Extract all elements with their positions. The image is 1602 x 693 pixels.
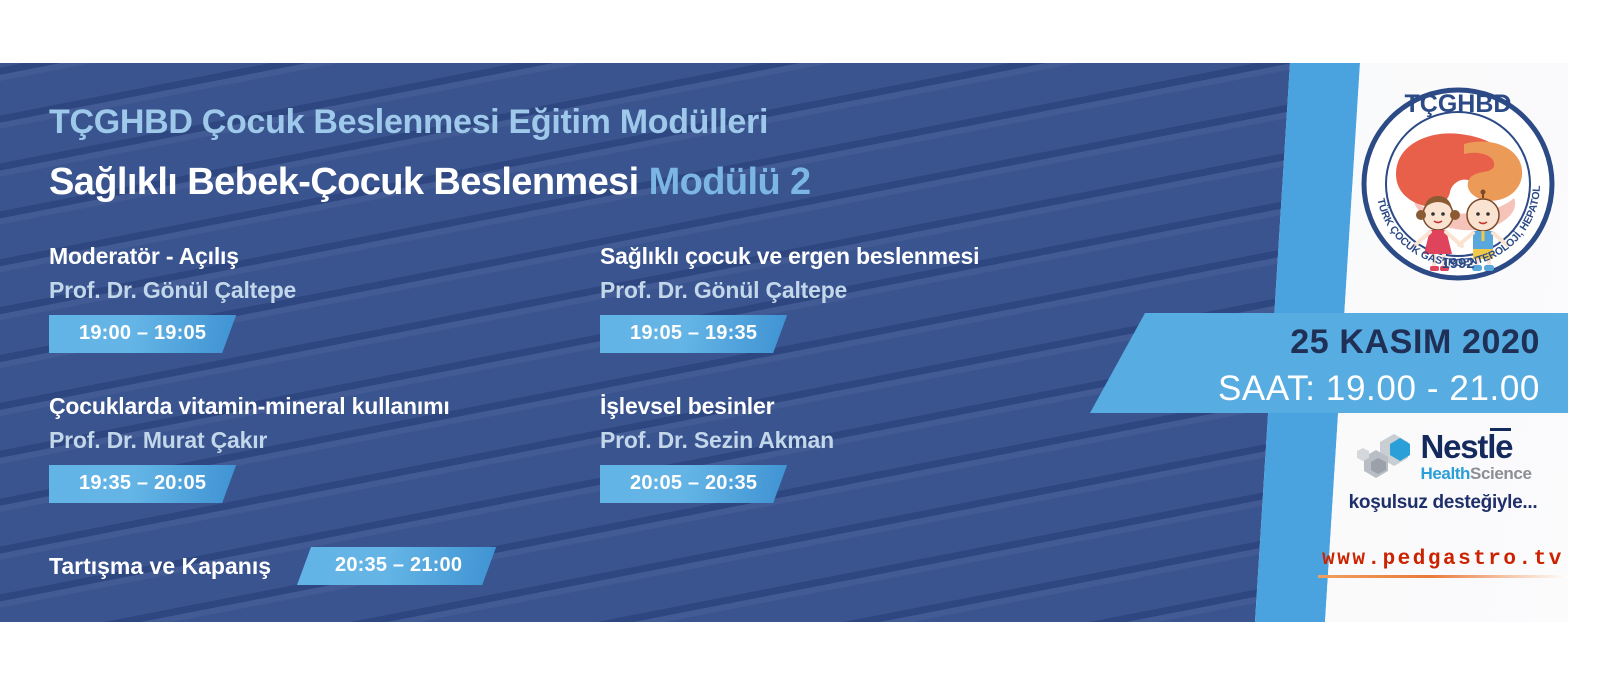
event-banner: TÇGHBD Çocuk Beslenmesi Eğitim Modülleri… xyxy=(0,63,1602,622)
headline-accent: Modülü 2 xyxy=(649,161,811,203)
session-time-badge: 19:35 – 20:05 xyxy=(49,465,236,503)
event-time: SAAT: 19.00 - 21.00 xyxy=(1090,359,1540,406)
website-url[interactable]: www.pedgastro.tv xyxy=(1318,548,1568,571)
tcghbd-logo: TÇGHBD 1992 TÜRK ÇOCUK GASTROENTEROLOJİ,… xyxy=(1352,78,1564,290)
kicker-title: TÇGHBD Çocuk Beslenmesi Eğitim Modülleri xyxy=(49,103,768,142)
closing-time-badge: 20:35 – 21:00 xyxy=(297,547,496,585)
session-time-badge: 19:05 – 19:35 xyxy=(600,315,787,353)
nestle-health-word: Health xyxy=(1420,464,1470,483)
event-date-banner: 25 KASIM 2020 SAAT: 19.00 - 21.00 xyxy=(1090,313,1568,413)
closing-title: Tartışma ve Kapanış xyxy=(49,553,271,580)
nestle-sponsor-logo: Nestle HealthScience koşulsuz desteğiyle… xyxy=(1318,428,1568,514)
session-title: İşlevsel besinler xyxy=(600,393,834,420)
session-item: İşlevsel besinler Prof. Dr. Sezin Akman … xyxy=(600,393,834,503)
session-speaker: Prof. Dr. Gönül Çaltepe xyxy=(600,277,979,304)
session-time-badge: 19:00 – 19:05 xyxy=(49,315,236,353)
session-title: Moderatör - Açılış xyxy=(49,243,296,270)
nestle-hexagon-icon xyxy=(1354,428,1416,484)
nestle-science-word: Science xyxy=(1470,464,1531,483)
url-underline xyxy=(1318,575,1568,578)
logo-acronym: TÇGHBD xyxy=(1405,90,1512,118)
session-title: Sağlıklı çocuk ve ergen beslenmesi xyxy=(600,243,979,270)
nestle-subbrand: HealthScience xyxy=(1420,465,1531,482)
session-speaker: Prof. Dr. Sezin Akman xyxy=(600,427,834,454)
page-title: Sağlıklı Bebek-Çocuk Beslenmesi Modülü 2 xyxy=(49,161,811,204)
session-item: Sağlıklı çocuk ve ergen beslenmesi Prof.… xyxy=(600,243,979,353)
program-content: TÇGHBD Çocuk Beslenmesi Eğitim Modülleri… xyxy=(0,63,1100,622)
session-time-badge: 20:05 – 20:35 xyxy=(600,465,787,503)
website-block[interactable]: www.pedgastro.tv xyxy=(1318,548,1568,578)
sponsor-support-line: koşulsuz desteğiyle... xyxy=(1318,492,1568,514)
session-title: Çocuklarda vitamin-mineral kullanımı xyxy=(49,393,450,420)
session-item: Çocuklarda vitamin-mineral kullanımı Pro… xyxy=(49,393,450,503)
event-date: 25 KASIM 2020 xyxy=(1090,313,1540,359)
session-speaker: Prof. Dr. Gönül Çaltepe xyxy=(49,277,296,304)
closing-session: Tartışma ve Kapanış 20:35 – 21:00 xyxy=(49,547,496,585)
session-item: Moderatör - Açılış Prof. Dr. Gönül Çalte… xyxy=(49,243,296,353)
session-speaker: Prof. Dr. Murat Çakır xyxy=(49,427,450,454)
nestle-wordmark: Nestle xyxy=(1420,430,1512,463)
right-white-margin xyxy=(1568,63,1602,622)
headline-main: Sağlıklı Bebek-Çocuk Beslenmesi xyxy=(49,161,639,203)
